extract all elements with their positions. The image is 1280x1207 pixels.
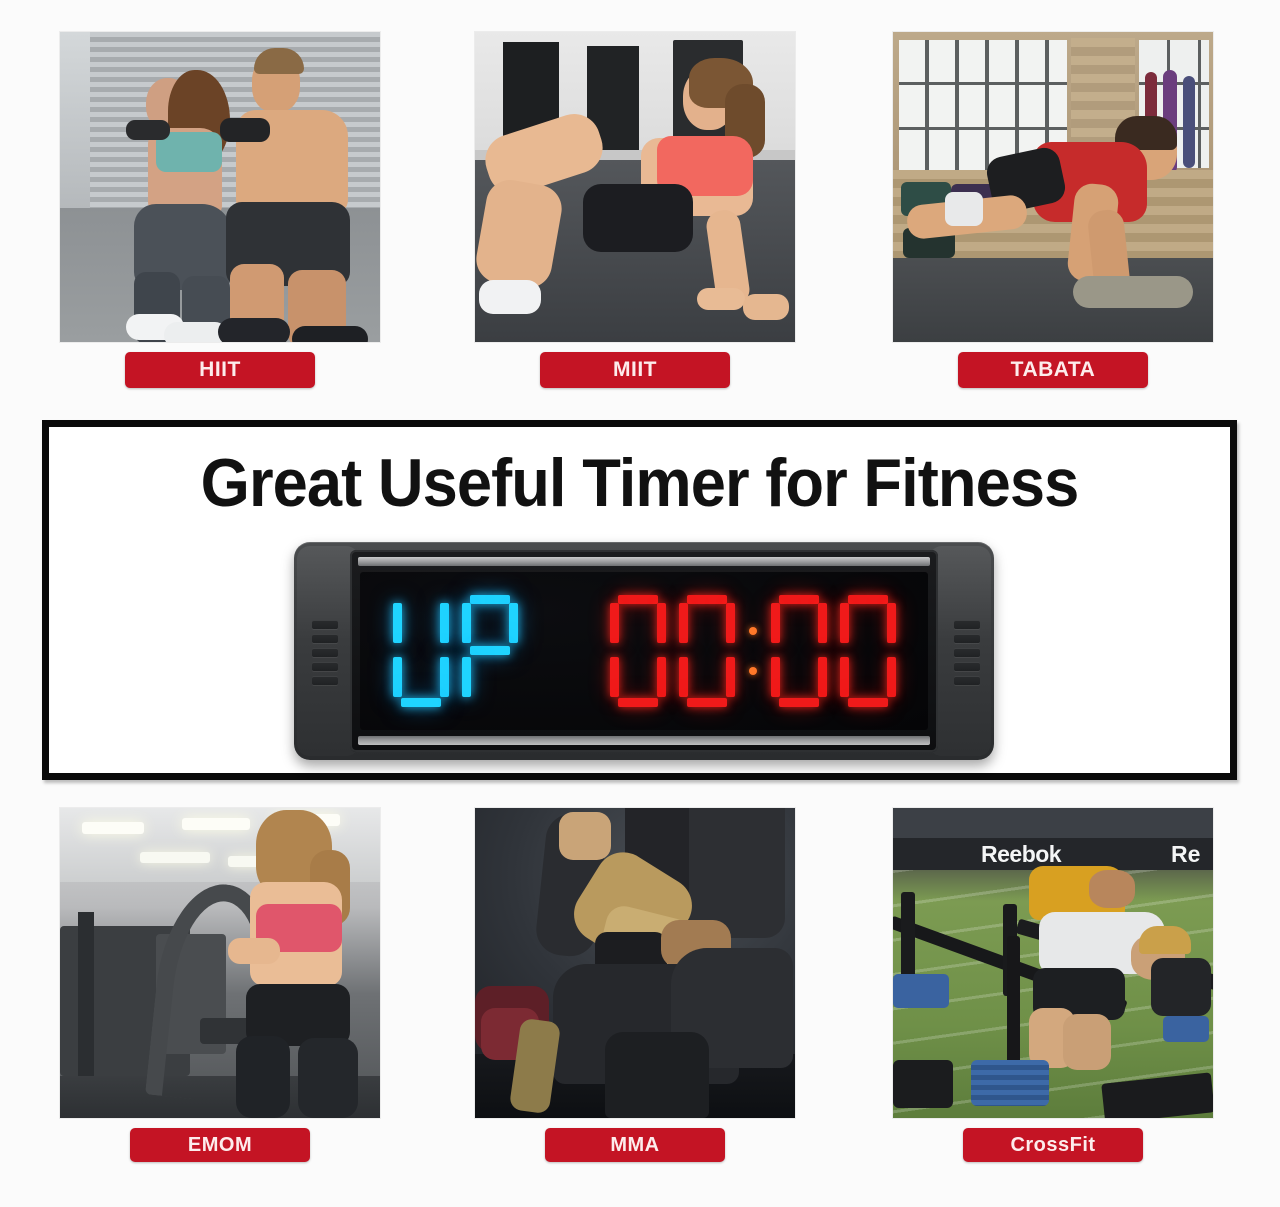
timer-screen [360, 572, 928, 730]
badge-tabata: TABATA [958, 352, 1148, 388]
badge-mma: MMA [545, 1128, 725, 1162]
timer-bezel [350, 550, 938, 752]
seg-char-digit-2 [676, 595, 738, 707]
timer-top-trim [358, 557, 930, 566]
photo-crossfit: Reebok Re [893, 808, 1213, 1118]
badge-label-miit: MIIT [613, 358, 657, 382]
photo-tabata [893, 32, 1213, 342]
photo-hiit [60, 32, 380, 342]
seg-char-P [459, 595, 521, 707]
seg-char-digit-3 [768, 595, 830, 707]
photo-miit [475, 32, 795, 342]
banner-text-reebok: Reebok [981, 842, 1091, 866]
badge-label-crossfit: CrossFit [1010, 1134, 1095, 1157]
badge-hiit: HIIT [125, 352, 315, 388]
timer-colon [745, 595, 761, 707]
card-emom: EMOM [60, 808, 380, 1118]
card-crossfit: Reebok Re [893, 808, 1213, 1118]
card-tabata: TABATA [893, 32, 1213, 342]
badge-label-mma: MMA [610, 1134, 659, 1157]
badge-label-hiit: HIIT [199, 358, 241, 382]
timer-left-vents [312, 620, 338, 685]
card-mma: MMA [475, 808, 795, 1118]
card-hiit: HIIT [60, 32, 380, 342]
badge-crossfit: CrossFit [963, 1128, 1143, 1162]
seg-char-U [390, 595, 452, 707]
card-miit: MIIT [475, 32, 795, 342]
badge-label-emom: EMOM [188, 1134, 252, 1157]
photo-mma [475, 808, 795, 1118]
feature-panel: Great Useful Timer for Fitness [42, 420, 1237, 780]
seg-char-digit-4 [837, 595, 899, 707]
seg-char-digit-1 [607, 595, 669, 707]
fitness-timer-device [294, 542, 994, 760]
product-collage: HIIT MIIT [0, 0, 1280, 1207]
banner-text-partial: Re [1171, 842, 1213, 866]
timer-right-vents [954, 620, 980, 685]
timer-mode-display [390, 595, 521, 707]
timer-time-display [607, 595, 899, 707]
badge-emom: EMOM [130, 1128, 310, 1162]
timer-bottom-trim [358, 736, 930, 745]
badge-label-tabata: TABATA [1011, 358, 1096, 382]
page-title: Great Useful Timer for Fitness [90, 449, 1188, 517]
photo-emom [60, 808, 380, 1118]
badge-miit: MIIT [540, 352, 730, 388]
